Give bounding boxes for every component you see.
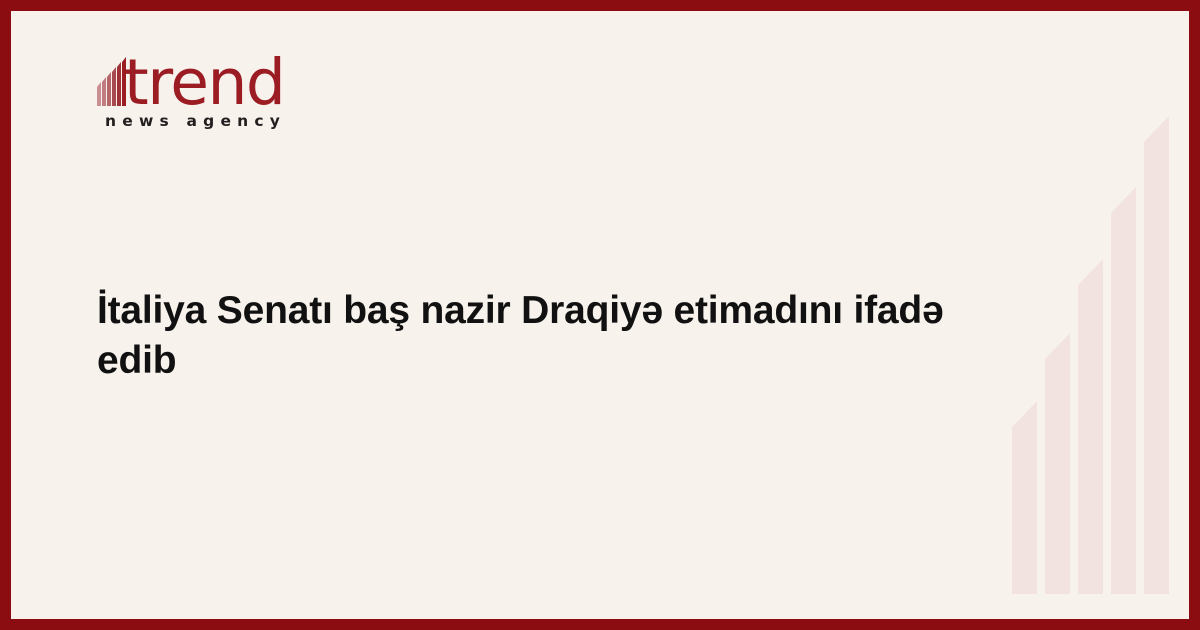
headline-container: İtaliya Senatı baş nazir Draqiyə etimadı… (97, 261, 999, 411)
watermark-bar (1045, 333, 1070, 594)
brand-wordmark: trend (124, 57, 284, 109)
logo-bar-slant (102, 77, 106, 82)
watermark-bar-slant (1045, 333, 1070, 359)
watermark-bar-slant (1144, 116, 1169, 142)
watermark-bar-slant (1078, 259, 1103, 285)
page-title: İtaliya Senatı baş nazir Draqiyə etimadı… (97, 286, 999, 386)
logo-bar (112, 67, 116, 106)
logo-bar (117, 62, 121, 106)
watermark-bar (1012, 401, 1037, 594)
logo-bar-slant (107, 72, 111, 77)
rising-bars-icon (97, 54, 125, 106)
watermark-bar (1111, 187, 1136, 594)
logo-bar (102, 77, 106, 106)
watermark-bar (1078, 259, 1103, 594)
rising-bars-watermark-icon (1012, 11, 1162, 619)
social-card: trend news agency İtaliya Senatı baş naz… (0, 0, 1200, 630)
watermark-bar-slant (1111, 187, 1136, 213)
card-background: trend news agency İtaliya Senatı baş naz… (11, 11, 1189, 619)
logo-bar (107, 72, 111, 106)
logo-row: trend (97, 44, 397, 106)
logo-bar-slant (117, 62, 121, 67)
logo-bar-slant (112, 67, 116, 72)
watermark-bar-slant (1012, 401, 1037, 427)
brand-logo[interactable]: trend news agency (97, 44, 397, 130)
logo-bar (97, 82, 101, 106)
logo-bar-slant (97, 82, 101, 87)
watermark-bar (1144, 116, 1169, 594)
